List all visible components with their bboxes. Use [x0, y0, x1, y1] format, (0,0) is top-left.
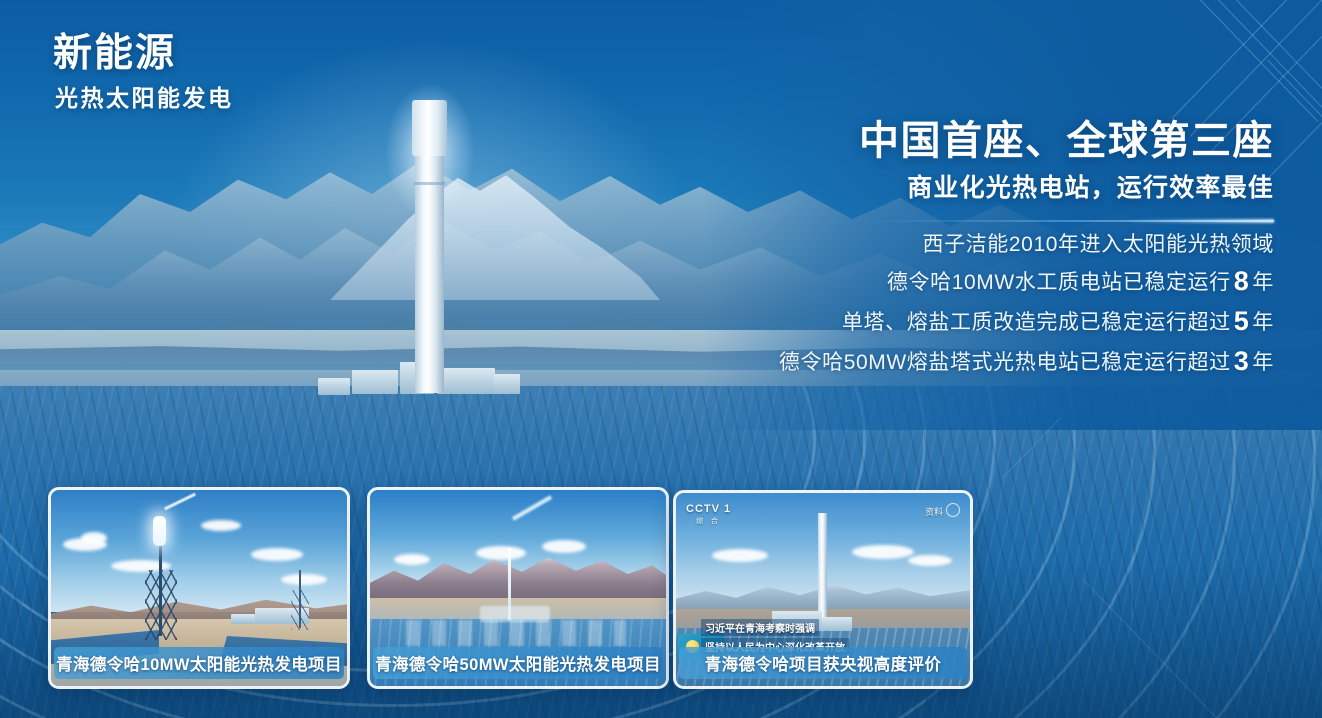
- caption-text: 青海德令哈项目获央视高度评价: [705, 651, 942, 675]
- photo-card-2[interactable]: 青海德令哈50MW太阳能光热发电项目: [367, 487, 669, 689]
- tower-band: [414, 182, 445, 185]
- fact-number: 3: [1231, 346, 1253, 376]
- fact-text: 德令哈50MW熔盐塔式光热电站已稳定运行超过: [779, 351, 1231, 374]
- clock-icon: [946, 503, 960, 517]
- cctv-logo: CCTV 1 综 合: [686, 503, 731, 526]
- fact-line: 西子洁能2010年进入太阳能光热领域: [779, 234, 1274, 255]
- slide-root: 新能源 光热太阳能发电 中国首座、全球第三座 商业化光热电站，运行效率最佳 西子…: [0, 0, 1322, 718]
- lower-right-decoration: [962, 418, 1322, 718]
- fact-text: 单塔、熔盐工质改造完成已稳定运行超过: [842, 311, 1231, 334]
- plant-building: [494, 374, 520, 394]
- page-subtitle: 光热太阳能发电: [55, 86, 234, 111]
- caption-text: 青海德令哈50MW太阳能光热发电项目: [375, 651, 661, 675]
- headline-block: 中国首座、全球第三座 商业化光热电站，运行效率最佳: [859, 118, 1274, 203]
- tower-receiver: [412, 100, 447, 156]
- plant-building: [437, 368, 495, 394]
- plant-building: [318, 378, 350, 395]
- headline-sub: 商业化光热电站，运行效率最佳: [859, 173, 1274, 203]
- fact-line: 德令哈10MW水工质电站已稳定运行8年: [779, 268, 1274, 295]
- fact-line: 单塔、熔盐工质改造完成已稳定运行超过5年: [779, 308, 1274, 335]
- fact-list: 西子洁能2010年进入太阳能光热领域 德令哈10MW水工质电站已稳定运行8年 单…: [779, 234, 1274, 388]
- headline-main: 中国首座、全球第三座: [859, 118, 1274, 164]
- photo-card-1[interactable]: 青海德令哈10MW太阳能光热发电项目: [48, 487, 350, 689]
- page-title: 新能源: [53, 33, 234, 76]
- headline-divider: [869, 220, 1274, 222]
- caption-text: 青海德令哈10MW太阳能光热发电项目: [56, 651, 342, 675]
- ticker-line-1: 习近平在青海考察时强调: [701, 619, 819, 636]
- photo-1-caption: 青海德令哈10MW太阳能光热发电项目: [54, 647, 344, 679]
- fact-text: 德令哈10MW水工质电站已稳定运行: [887, 271, 1231, 294]
- fact-unit: 年: [1252, 351, 1274, 374]
- fact-unit: 年: [1252, 311, 1274, 334]
- cctv-channel-sub: 综 合: [686, 516, 731, 526]
- photo-2-caption: 青海德令哈50MW太阳能光热发电项目: [373, 647, 663, 679]
- archive-badge-text: 资料: [925, 507, 943, 517]
- slide-title-block: 新能源 光热太阳能发电: [53, 33, 234, 111]
- fact-number: 5: [1231, 306, 1253, 336]
- fact-text: 西子洁能2010年进入太阳能光热领域: [922, 233, 1274, 256]
- fact-unit: 年: [1252, 271, 1274, 294]
- photo-3-caption: 青海德令哈项目获央视高度评价: [679, 647, 967, 679]
- archive-badge: 资料: [925, 503, 960, 518]
- fact-line: 德令哈50MW熔盐塔式光热电站已稳定运行超过3年: [779, 348, 1274, 375]
- fact-number: 8: [1231, 266, 1253, 296]
- cctv-channel-name: CCTV 1: [686, 503, 731, 515]
- photo-card-3[interactable]: CCTV 1 综 合 资料 习近平在青海考察时强调 坚持以人民为中心深化改革开放…: [673, 490, 973, 689]
- plant-building: [352, 370, 398, 394]
